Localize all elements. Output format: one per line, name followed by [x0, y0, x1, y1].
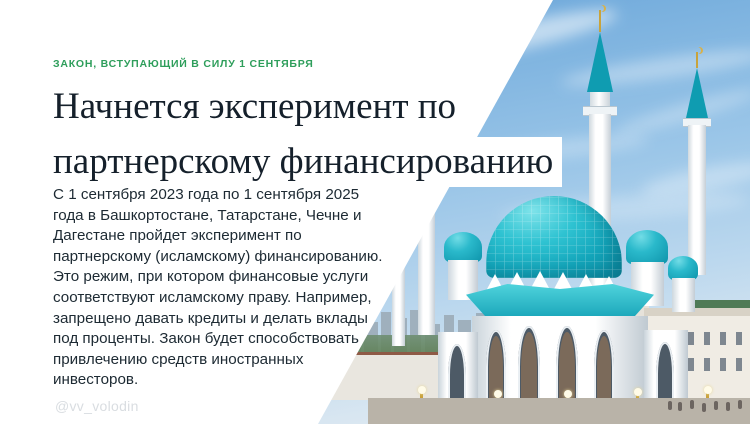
body-copy: С 1 сентября 2023 года по 1 сентября 202…	[53, 185, 383, 391]
title-line-2: партнерскому финансированию	[44, 137, 562, 188]
kicker-label: ЗАКОН, ВСТУПАЮЩИЙ В СИЛУ 1 СЕНТЯБРЯ	[53, 58, 314, 70]
page-title: Начнется эксперимент по партнерскому фин…	[44, 82, 744, 191]
main-dome	[486, 196, 622, 278]
infographic-card: ЗАКОН, ВСТУПАЮЩИЙ В СИЛУ 1 СЕНТЯБРЯ Начн…	[0, 0, 750, 424]
body-paragraph: С 1 сентября 2023 года по 1 сентября 202…	[53, 185, 383, 391]
author-handle: @vv_volodin	[55, 398, 139, 414]
title-line-1: Начнется эксперимент по	[44, 82, 465, 133]
